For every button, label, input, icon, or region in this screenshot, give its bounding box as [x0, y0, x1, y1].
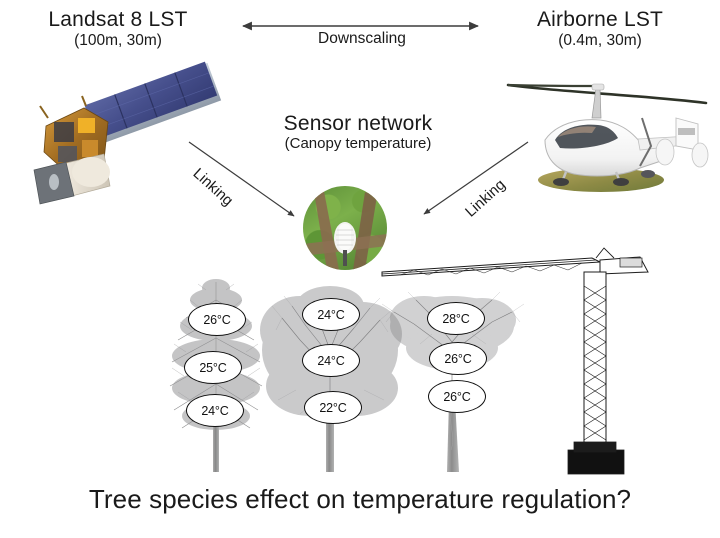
figure-canvas: Landsat 8 LST (100m, 30m) Airborne LST (… [0, 0, 720, 538]
linking-label-right: Linking [462, 176, 509, 220]
downscaling-label: Downscaling [272, 30, 452, 48]
temp-bubble-tree3-bottom: 26°C [428, 380, 486, 413]
landsat-title: Landsat 8 LST [18, 8, 218, 32]
airborne-subtitle: (0.4m, 30m) [500, 32, 700, 49]
temp-bubble-tree1-middle: 25°C [184, 351, 242, 384]
temp-bubble-tree2-middle: 24°C [302, 344, 360, 377]
temp-bubble-tree1-top: 26°C [188, 303, 246, 336]
temp-bubble-tree3-middle: 26°C [429, 342, 487, 375]
temp-bubble-tree2-bottom: 22°C [304, 391, 362, 424]
temp-bubble-tree2-top: 24°C [302, 298, 360, 331]
temp-bubble-tree1-bottom: 24°C [186, 394, 244, 427]
figure-caption: Tree species effect on temperature regul… [0, 484, 720, 515]
sensor-subtitle: (Canopy temperature) [258, 136, 458, 153]
sensor-label-block: Sensor network (Canopy temperature) [258, 112, 458, 152]
landsat-subtitle: (100m, 30m) [18, 32, 218, 49]
figure-artwork [0, 0, 720, 538]
linking-label-left: Linking [190, 165, 237, 209]
canopy-sensor-photo [303, 186, 387, 270]
tower-crane-illustration [382, 248, 648, 474]
sensor-title: Sensor network [258, 112, 458, 136]
airborne-label-block: Airborne LST (0.4m, 30m) [500, 8, 700, 49]
temp-bubble-tree3-top: 28°C [427, 302, 485, 335]
landsat-label-block: Landsat 8 LST (100m, 30m) [18, 8, 218, 49]
airborne-title: Airborne LST [500, 8, 700, 32]
gyrocopter-illustration [508, 84, 708, 192]
satellite-illustration [34, 61, 221, 204]
